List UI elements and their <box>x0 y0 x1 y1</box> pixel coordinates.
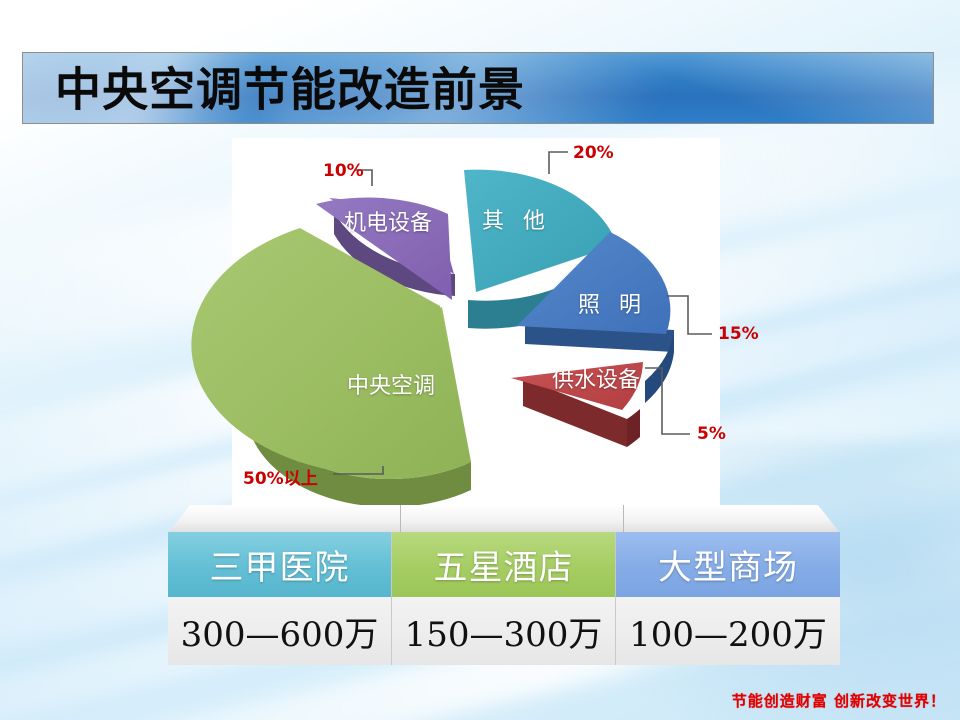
table-header-mall: 大型商场 <box>616 532 840 597</box>
pie-slice-label-water-supply: 供水设备 <box>552 362 640 394</box>
pie-slice-label-lighting: 照 明 <box>578 287 647 319</box>
table-value-hospital: 300—600万 <box>168 597 392 665</box>
table-value-mall: 100—200万 <box>616 597 840 665</box>
pie-slice-label-central-ac: 中央空调 <box>347 368 435 400</box>
pie-pct-electromechanical: 10% <box>323 161 364 181</box>
table-column-hospital: 三甲医院 300—600万 <box>168 532 392 665</box>
table-top-fold <box>400 505 401 533</box>
segment-table: 三甲医院 300—600万 五星酒店 150—300万 大型商场 100—200… <box>168 505 840 665</box>
chart-white-panel <box>232 138 720 510</box>
pie-pct-other: 20% <box>573 143 614 163</box>
pie-pct-water-supply: 5% <box>697 424 726 444</box>
page-title: 中央空调节能改造前景 <box>55 54 525 120</box>
title-banner: 中央空调节能改造前景 <box>22 52 934 124</box>
pie-slice-label-other: 其 他 <box>482 203 551 235</box>
table-column-mall: 大型商场 100—200万 <box>616 532 840 665</box>
pie-pct-lighting: 15% <box>718 324 759 344</box>
table-column-hotel: 五星酒店 150—300万 <box>392 532 616 665</box>
table-3d-top-face <box>168 505 840 533</box>
pie-slice-label-electromechanical: 机电设备 <box>344 205 432 237</box>
table-grid: 三甲医院 300—600万 五星酒店 150—300万 大型商场 100—200… <box>168 532 840 665</box>
table-header-hotel: 五星酒店 <box>392 532 616 597</box>
slide-canvas: 中央空调节能改造前景 <box>0 0 960 720</box>
pie-pct-central-ac: 50%以上 <box>243 464 318 489</box>
table-value-hotel: 150—300万 <box>392 597 616 665</box>
table-top-fold <box>623 505 624 533</box>
footer-slogan: 节能创造财富 创新改变世界！ <box>732 690 946 711</box>
table-header-hospital: 三甲医院 <box>168 532 392 597</box>
